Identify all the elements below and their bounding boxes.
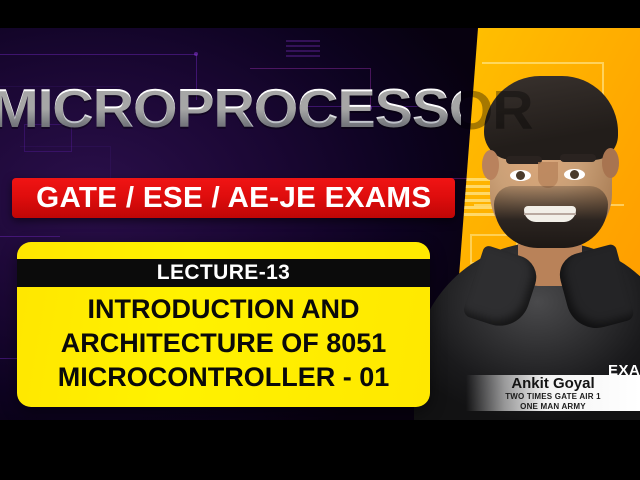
lecture-title-line: MICROCONTROLLER - 01 bbox=[17, 360, 430, 394]
lecture-title-line: INTRODUCTION AND bbox=[17, 292, 430, 326]
thumbnail-stage: EXA MICROPROCESSOR GATE / ESE / AE-JE EX… bbox=[0, 28, 640, 420]
nose bbox=[538, 162, 558, 188]
presenter-credential-1: TWO TIMES GATE AIR 1 bbox=[505, 392, 601, 402]
lecture-number-text: LECTURE-13 bbox=[157, 261, 291, 285]
letterbox-bottom bbox=[0, 420, 640, 480]
eyebrow-right bbox=[560, 154, 596, 162]
page-title: MICROPROCESSOR bbox=[0, 80, 452, 136]
exam-banner: GATE / ESE / AE-JE EXAMS bbox=[12, 178, 455, 218]
lecture-title-line: ARCHITECTURE OF 8051 bbox=[17, 326, 430, 360]
presenter-name-plate: Ankit Goyal TWO TIMES GATE AIR 1 ONE MAN… bbox=[466, 375, 640, 411]
eyebrow-left bbox=[506, 156, 542, 164]
presenter-credential-2: ONE MAN ARMY bbox=[520, 402, 586, 412]
lecture-number-strip: LECTURE-13 bbox=[17, 259, 430, 287]
mouth bbox=[524, 206, 576, 222]
lecture-title-block: INTRODUCTION AND ARCHITECTURE OF 8051 MI… bbox=[17, 292, 430, 394]
ear-right bbox=[602, 148, 619, 178]
exam-banner-text: GATE / ESE / AE-JE EXAMS bbox=[36, 182, 431, 215]
eye-right bbox=[564, 169, 585, 180]
eye-left bbox=[510, 170, 531, 181]
ear-left bbox=[482, 150, 499, 180]
lecture-card: LECTURE-13 INTRODUCTION AND ARCHITECTURE… bbox=[17, 242, 430, 407]
title-text: MICROPROCESSOR bbox=[0, 80, 461, 136]
letterbox-top bbox=[0, 0, 640, 28]
video-thumbnail: EXA MICROPROCESSOR GATE / ESE / AE-JE EX… bbox=[0, 0, 640, 480]
presenter-name: Ankit Goyal bbox=[511, 375, 594, 392]
